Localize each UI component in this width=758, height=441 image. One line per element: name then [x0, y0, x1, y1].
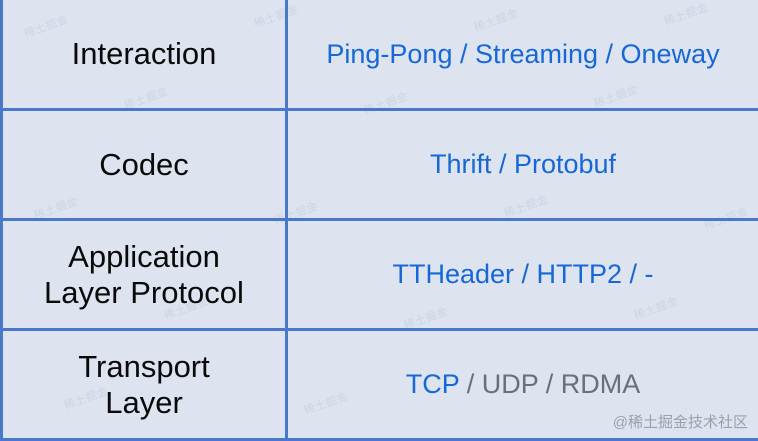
row-value-interaction: Ping-Pong / Streaming / Oneway [288, 0, 758, 108]
row-label-line2: Layer [105, 385, 183, 421]
row-label-transport-layer: Transport Layer [3, 331, 288, 438]
row-value-application-layer-protocol: TTHeader / HTTP2 / - [288, 221, 758, 328]
row-label-application-layer-protocol: Application Layer Protocol [3, 221, 288, 328]
layer-protocol-table: 稀土掘金 稀土掘金 稀土掘金 稀土掘金 稀土掘金 稀土掘金 稀土掘金 稀土掘金 … [0, 0, 758, 441]
row-label-codec: Codec [3, 111, 288, 218]
row-label-line2: Layer Protocol [44, 275, 244, 311]
row-label-text: Codec [99, 147, 189, 183]
table-row: Interaction Ping-Pong / Streaming / Onew… [3, 0, 758, 111]
row-label-line1: Application [68, 239, 220, 275]
row-label-interaction: Interaction [3, 0, 288, 108]
row-value-muted: / UDP / RDMA [459, 369, 640, 399]
table-row: Application Layer Protocol TTHeader / HT… [3, 221, 758, 331]
row-value-text: Thrift / Protobuf [430, 148, 616, 180]
source-credit-watermark: @稀土掘金技术社区 [613, 411, 748, 432]
row-value-text: TTHeader / HTTP2 / - [392, 258, 653, 290]
table-row: Codec Thrift / Protobuf [3, 111, 758, 221]
row-value-text: Ping-Pong / Streaming / Oneway [326, 38, 719, 70]
row-label-text: Interaction [72, 36, 217, 72]
row-label-line1: Transport [78, 349, 210, 385]
row-value-group: TCP / UDP / RDMA [406, 368, 641, 400]
row-value-codec: Thrift / Protobuf [288, 111, 758, 218]
row-value-primary: TCP [406, 369, 460, 399]
